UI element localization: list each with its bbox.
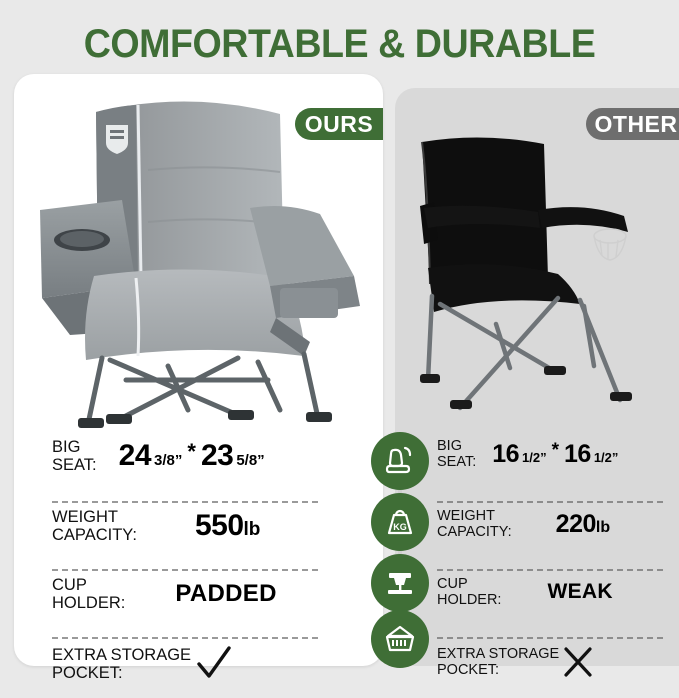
spec-divider [437, 564, 663, 576]
spec-value-cupholder: PADDED [175, 580, 276, 608]
cup-holder-icon [371, 554, 429, 612]
spec-label-cupholder: CUP HOLDER: [52, 576, 125, 613]
spec-value-pocket [193, 644, 235, 684]
dimension-separator: * [187, 439, 196, 465]
spec-label-cupholder: CUP HOLDER: [437, 576, 501, 608]
comparison-infographic: COMFORTABLE & DURABLE [0, 0, 679, 679]
cross-icon [559, 644, 597, 680]
page-title: COMFORTABLE & DURABLE [20, 22, 658, 67]
spec-table-ours: BIG SEAT: 24 3/8” * 23 5/8” WEIGHT CAPAC… [52, 438, 318, 698]
spec-label-weight: WEIGHT CAPACITY: [52, 508, 137, 545]
spec-row-cupholder-other: CUP HOLDER: WEAK [437, 576, 663, 632]
cupholder-value: WEAK [547, 580, 612, 604]
weight-unit: lb [596, 519, 610, 537]
spec-divider [52, 632, 318, 644]
spec-label-seat: BIG SEAT: [437, 438, 476, 470]
badge-other: OTHER [586, 108, 679, 140]
seat-depth-frac: 1/2” [594, 450, 619, 465]
cupholder-value: PADDED [175, 580, 276, 608]
spec-label-pocket: EXTRA STORAGE POCKET: [52, 646, 191, 683]
spec-divider [52, 496, 318, 508]
spec-value-seat: 16 1/2” * 16 1/2” [492, 440, 618, 469]
check-icon [193, 644, 235, 684]
seat-width-whole: 24 [119, 439, 151, 473]
seat-depth-whole: 16 [564, 440, 591, 469]
storage-basket-icon [371, 610, 429, 668]
spec-divider [437, 496, 663, 508]
spec-value-pocket [559, 644, 597, 680]
spec-row-seat-other: BIG SEAT: 16 1/2” * 16 1/2” [437, 438, 663, 496]
spec-label-weight: WEIGHT CAPACITY: [437, 508, 512, 540]
weight-number: 220 [556, 510, 596, 539]
svg-text:KG: KG [393, 522, 407, 532]
spec-row-cupholder-ours: CUP HOLDER: PADDED [52, 576, 318, 632]
spec-row-weight-ours: WEIGHT CAPACITY: 550 lb [52, 508, 318, 564]
spec-row-weight-other: WEIGHT CAPACITY: 220 lb [437, 508, 663, 564]
seat-width-frac: 1/2” [522, 450, 547, 465]
spec-row-pocket-other: EXTRA STORAGE POCKET: [437, 644, 663, 698]
brand-logo [106, 125, 128, 154]
seat-depth-frac: 5/8” [236, 452, 264, 469]
weight-kg-icon: KG [371, 493, 429, 551]
seat-icon [371, 432, 429, 490]
spec-value-weight: 550 lb [195, 509, 260, 543]
weight-unit: lb [244, 519, 261, 541]
weight-number: 550 [195, 509, 244, 543]
badge-ours: OURS [295, 108, 383, 140]
seat-depth-whole: 23 [201, 439, 233, 473]
spec-value-weight: 220 lb [556, 510, 610, 539]
spec-label-pocket: EXTRA STORAGE POCKET: [437, 646, 559, 678]
spec-table-other: BIG SEAT: 16 1/2” * 16 1/2” WEIGHT CAPAC… [437, 438, 663, 698]
seat-width-whole: 16 [492, 440, 519, 469]
spec-divider [437, 632, 663, 644]
spec-divider [52, 564, 318, 576]
spec-row-seat-ours: BIG SEAT: 24 3/8” * 23 5/8” [52, 438, 318, 496]
spec-value-cupholder: WEAK [547, 580, 612, 604]
spec-label-seat: BIG SEAT: [52, 438, 97, 475]
seat-width-frac: 3/8” [154, 452, 182, 469]
spec-row-pocket-ours: EXTRA STORAGE POCKET: [52, 644, 318, 698]
product-image-other [398, 128, 678, 428]
dimension-separator: * [552, 440, 559, 462]
icon-rail: KG [371, 432, 429, 668]
spec-value-seat: 24 3/8” * 23 5/8” [119, 439, 265, 473]
